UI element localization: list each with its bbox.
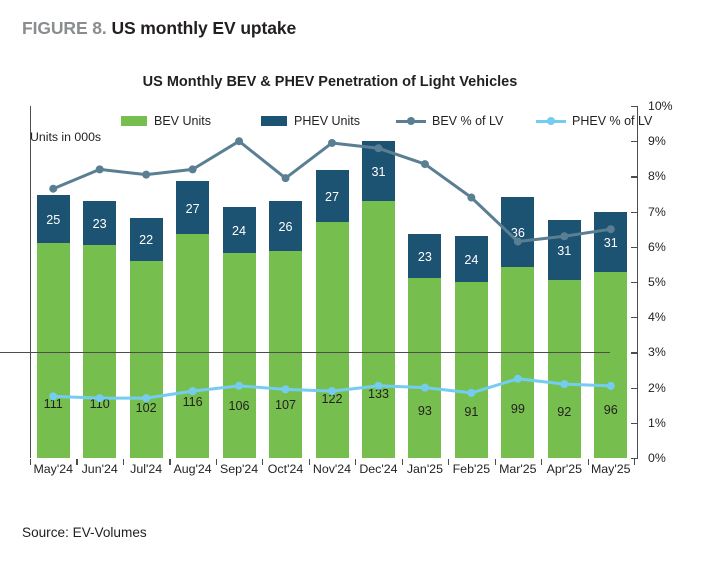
bar-value-label-bev: 133	[362, 387, 395, 401]
bar-segment-bev[interactable]	[316, 222, 349, 458]
bar-value-label-phev: 24	[455, 253, 488, 267]
bar-value-label-bev: 91	[455, 405, 488, 419]
x-axis-label: Jun'24	[76, 462, 122, 476]
right-axis-tick-label: 5%	[648, 275, 666, 289]
bar-value-label-bev: 111	[37, 397, 70, 411]
bar-value-label-bev: 96	[594, 403, 627, 417]
bar-value-label-bev: 106	[223, 399, 256, 413]
x-axis-label: May'24	[30, 462, 76, 476]
x-axis-label: Jan'25	[402, 462, 448, 476]
bar-segment-bev[interactable]	[548, 280, 581, 458]
x-axis-tick	[634, 459, 635, 465]
right-axis-tick	[631, 423, 638, 424]
bar-value-label-phev: 23	[83, 217, 116, 231]
bar-value-label-phev: 27	[316, 190, 349, 204]
right-axis-tick-label: 6%	[648, 240, 666, 254]
bar-segment-bev[interactable]	[223, 253, 256, 458]
right-axis-tick	[631, 141, 638, 142]
x-axis-label: Aug'24	[169, 462, 215, 476]
x-axis-labels: May'24Jun'24Jul'24Aug'24Sep'24Oct'24Nov'…	[30, 462, 634, 482]
x-axis-label: Oct'24	[262, 462, 308, 476]
right-axis-tick-label: 9%	[648, 134, 666, 148]
bar-group[interactable]: 9124	[455, 106, 488, 458]
bar-value-label-phev: 22	[130, 233, 163, 247]
bar-group[interactable]: 9323	[408, 106, 441, 458]
bar-value-label-phev: 26	[269, 220, 302, 234]
x-axis-label: Dec'24	[355, 462, 401, 476]
bar-value-label-bev: 122	[316, 392, 349, 406]
bar-value-label-phev: 24	[223, 224, 256, 238]
x-axis-label: Mar'25	[495, 462, 541, 476]
bar-value-label-bev: 99	[501, 402, 534, 416]
right-axis-tick	[631, 106, 638, 107]
x-axis-label: Sep'24	[216, 462, 262, 476]
right-axis-tick-label: 0%	[648, 451, 666, 465]
right-axis-tick	[631, 352, 638, 353]
x-axis-label: Feb'25	[448, 462, 494, 476]
bar-segment-bev[interactable]	[176, 234, 209, 458]
right-axis-tick	[631, 176, 638, 177]
bar-value-label-phev: 31	[594, 236, 627, 250]
figure-page: FIGURE 8. US monthly EV uptake US Monthl…	[0, 0, 701, 567]
bar-value-label-phev: 31	[362, 165, 395, 179]
bar-group[interactable]: 11125	[37, 106, 70, 458]
right-axis-tick	[631, 388, 638, 389]
x-axis-label: May'25	[588, 462, 634, 476]
bar-group[interactable]: 9631	[594, 106, 627, 458]
bar-group[interactable]: 13331	[362, 106, 395, 458]
right-axis-tick	[631, 247, 638, 248]
figure-title: US monthly EV uptake	[111, 18, 296, 38]
right-axis-tick	[631, 212, 638, 213]
bar-group[interactable]: 9936	[501, 106, 534, 458]
x-axis-label: Nov'24	[309, 462, 355, 476]
figure-heading: FIGURE 8. US monthly EV uptake	[22, 18, 296, 39]
right-axis-tick	[631, 317, 638, 318]
bar-value-label-bev: 116	[176, 395, 209, 409]
x-axis-line	[0, 352, 610, 353]
right-axis-tick-label: 8%	[648, 169, 666, 183]
bar-value-label-bev: 110	[83, 397, 116, 411]
plot-left-border	[30, 106, 31, 458]
bar-segment-bev[interactable]	[362, 201, 395, 458]
bar-group[interactable]: 11627	[176, 106, 209, 458]
bar-segment-bev[interactable]	[408, 278, 441, 458]
source-note: Source: EV-Volumes	[22, 525, 147, 540]
bar-segment-bev[interactable]	[455, 282, 488, 458]
right-axis-tick-label: 2%	[648, 381, 666, 395]
bar-group[interactable]: 11023	[83, 106, 116, 458]
bar-value-label-bev: 93	[408, 404, 441, 418]
bar-group[interactable]: 12227	[316, 106, 349, 458]
bar-group[interactable]: 10624	[223, 106, 256, 458]
bar-group[interactable]: 9231	[548, 106, 581, 458]
bar-value-label-bev: 107	[269, 398, 302, 412]
x-axis-label: Apr'25	[541, 462, 587, 476]
bar-value-label-phev: 31	[548, 244, 581, 258]
right-axis-tick-label: 1%	[648, 416, 666, 430]
plot-area: 1112511023102221162710624107261222713331…	[30, 106, 634, 458]
x-axis-label: Jul'24	[123, 462, 169, 476]
bar-value-label-phev: 25	[37, 213, 70, 227]
bar-segment-bev[interactable]	[37, 243, 70, 458]
bar-segment-bev[interactable]	[594, 272, 627, 458]
bar-value-label-phev: 27	[176, 202, 209, 216]
right-axis-tick-label: 3%	[648, 345, 666, 359]
bar-value-label-phev: 36	[501, 226, 534, 240]
right-axis-tick-label: 7%	[648, 205, 666, 219]
right-axis-tick-label: 4%	[648, 310, 666, 324]
bar-segment-bev[interactable]	[269, 251, 302, 458]
bar-group[interactable]: 10222	[130, 106, 163, 458]
bar-value-label-bev: 102	[130, 401, 163, 415]
right-axis-tick	[631, 282, 638, 283]
chart-title: US Monthly BEV & PHEV Penetration of Lig…	[0, 74, 660, 90]
bar-value-label-phev: 23	[408, 250, 441, 264]
bar-segment-bev[interactable]	[130, 261, 163, 458]
bar-segment-bev[interactable]	[501, 267, 534, 458]
right-axis-tick-label: 10%	[648, 99, 673, 113]
bar-group[interactable]: 10726	[269, 106, 302, 458]
figure-number-label: FIGURE 8.	[22, 18, 107, 38]
bar-value-label-bev: 92	[548, 405, 581, 419]
